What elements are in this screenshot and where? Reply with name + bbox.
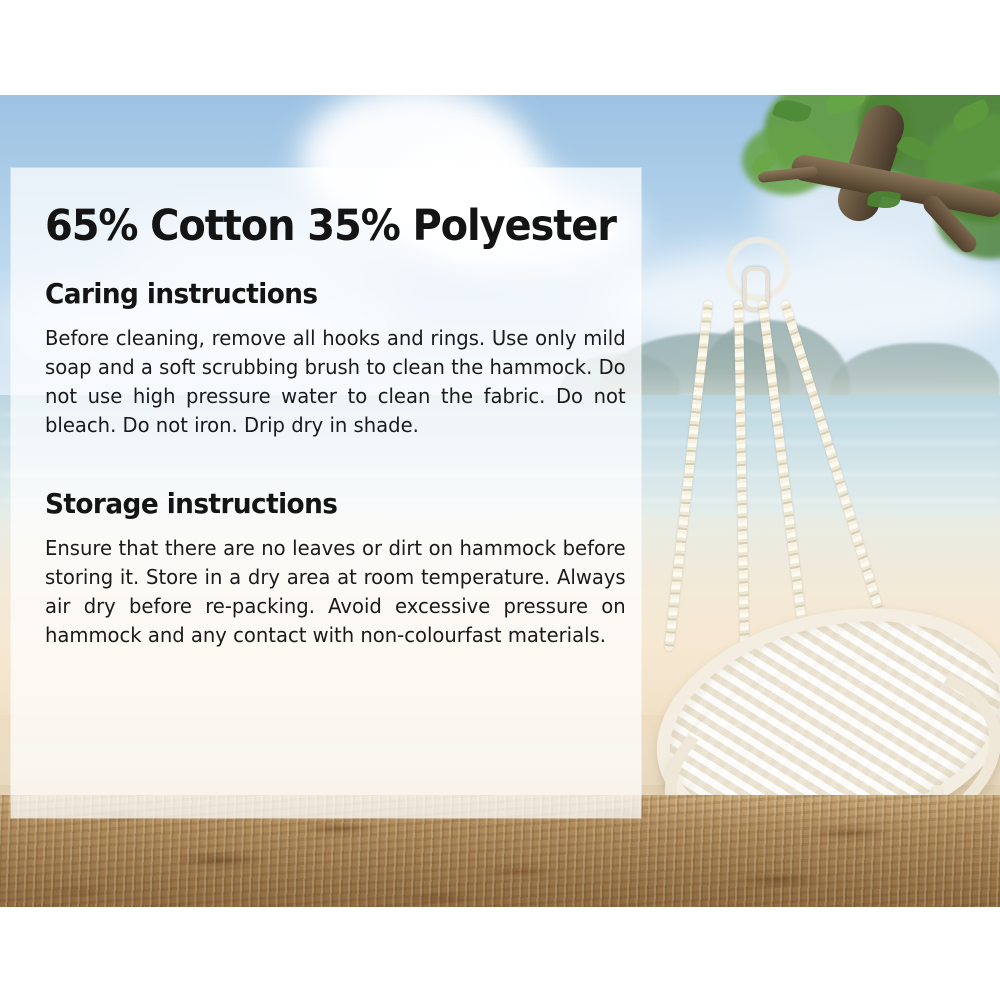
caring-heading: Caring instructions (45, 277, 575, 310)
caring-body: Before cleaning, remove all hooks and ri… (45, 324, 626, 440)
braided-cord (664, 300, 713, 651)
storage-body: Ensure that there are no leaves or dirt … (45, 534, 626, 650)
info-panel: 65% Cotton 35% Polyester Caring instruct… (11, 168, 641, 818)
product-image-canvas: 65% Cotton 35% Polyester Caring instruct… (0, 0, 1000, 1000)
storage-heading: Storage instructions (45, 487, 575, 520)
page-title: 65% Cotton 35% Polyester (45, 204, 570, 249)
section-storage: Storage instructions Ensure that there a… (45, 487, 609, 650)
section-caring: Caring instructions Before cleaning, rem… (45, 277, 609, 440)
macrame-hanging-chair (648, 245, 1000, 865)
